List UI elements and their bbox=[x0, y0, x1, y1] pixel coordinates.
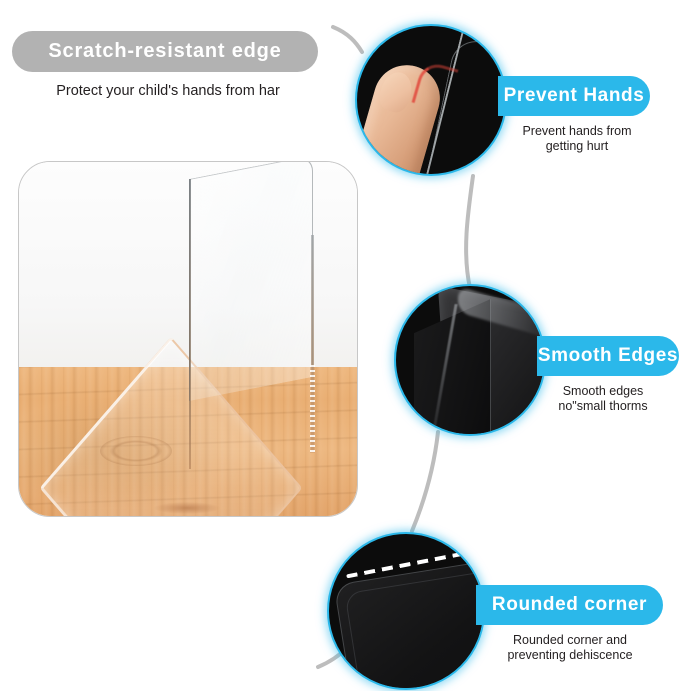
feature-photo-smooth-edges bbox=[394, 284, 546, 436]
feature-label-rounded-corner: Rounded corner bbox=[476, 585, 663, 625]
page-subtitle: Protect your child's hands from har bbox=[18, 83, 318, 99]
title-pill-badge: Scratch-resistant edge bbox=[12, 31, 318, 72]
infographic-canvas: Scratch-resistant edge Protect your chil… bbox=[0, 0, 679, 691]
page-title: Scratch-resistant edge bbox=[48, 40, 281, 63]
feature-photo-rounded-corner bbox=[327, 532, 485, 690]
product-photo-card bbox=[18, 161, 358, 517]
caption-line-1: Rounded corner and bbox=[472, 633, 668, 648]
caption-line-2: no"small thorms bbox=[528, 399, 678, 414]
feature-label-prevent-hands: Prevent Hands bbox=[498, 76, 650, 116]
acrylic-panel-back-edge bbox=[311, 235, 314, 451]
feature-photo-prevent-hands bbox=[355, 24, 507, 176]
caption-line-2: preventing dehiscence bbox=[472, 648, 668, 663]
feature-label-smooth-edges: Smooth Edges bbox=[537, 336, 679, 376]
feature-caption-smooth-edges: Smooth edges no"small thorms bbox=[528, 384, 678, 415]
caption-line-2: getting hurt bbox=[492, 139, 662, 154]
acrylic-panel-front-edge bbox=[189, 179, 191, 469]
caption-line-1: Smooth edges bbox=[528, 384, 678, 399]
feature-caption-prevent-hands: Prevent hands from getting hurt bbox=[492, 124, 662, 155]
label-text: Rounded corner bbox=[492, 594, 647, 616]
label-text: Smooth Edges bbox=[538, 345, 678, 367]
caption-line-1: Prevent hands from bbox=[492, 124, 662, 139]
label-text: Prevent Hands bbox=[504, 85, 645, 107]
acrylic-vertical-panel bbox=[189, 161, 313, 401]
feature-caption-rounded-corner: Rounded corner and preventing dehiscence bbox=[472, 633, 668, 664]
